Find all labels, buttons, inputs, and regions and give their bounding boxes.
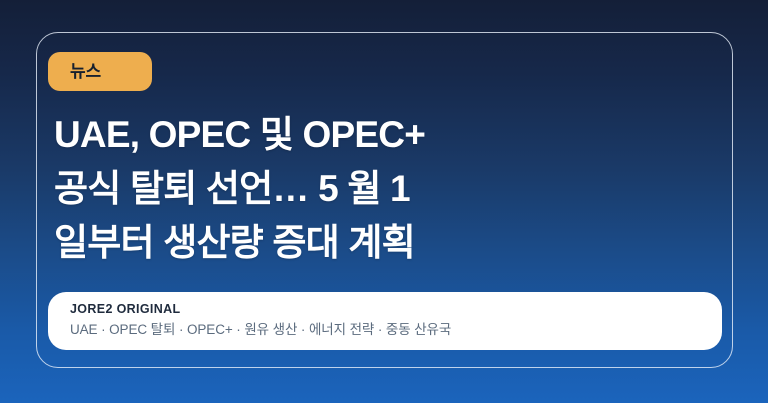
source-tags: UAE · OPEC 탈퇴 · OPEC+ · 원유 생산 · 에너지 전략 ·… (70, 319, 700, 341)
category-badge-label: 뉴스 (70, 63, 101, 80)
news-card-canvas: 뉴스 UAE, OPEC 및 OPEC+ 공식 탈퇴 선언… 5 월 1 일부터… (0, 0, 768, 403)
category-badge[interactable]: 뉴스 (48, 52, 152, 91)
source-card: JORE2 ORIGINAL UAE · OPEC 탈퇴 · OPEC+ · 원… (48, 292, 722, 350)
source-label: JORE2 ORIGINAL (70, 300, 700, 319)
headline: UAE, OPEC 및 OPEC+ 공식 탈퇴 선언… 5 월 1 일부터 생산… (54, 108, 674, 270)
